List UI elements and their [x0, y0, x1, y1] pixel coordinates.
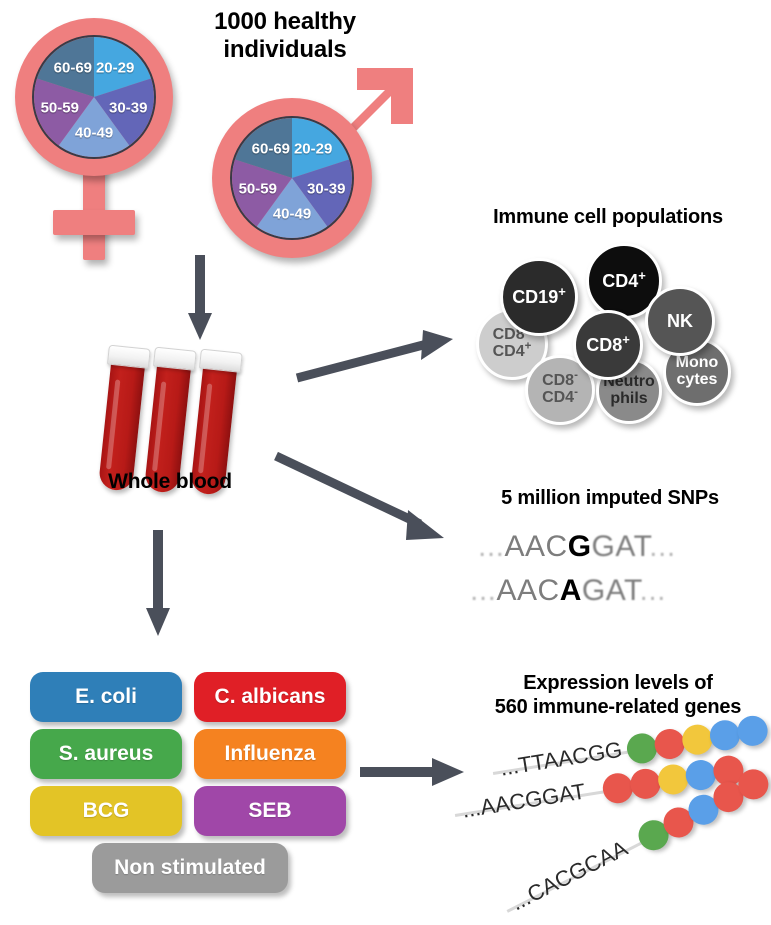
snp-segment: G — [568, 530, 592, 563]
figure-canvas: 1000 healthyindividuals 20-2930-3940-495… — [0, 0, 771, 922]
immune-cell-bubble: CD19+ — [500, 258, 578, 336]
rna-strand-sequence: ...CACGCAA — [507, 835, 632, 916]
stimulus-pill[interactable]: Influenza — [194, 729, 346, 779]
rna-bead — [735, 714, 769, 748]
immune-cell-bubble: NK — [645, 286, 715, 356]
snp-segment: ... — [478, 530, 505, 563]
snp-segment: GAT — [582, 574, 640, 607]
stimulus-pill[interactable]: Non stimulated — [92, 843, 288, 893]
immune-cell-label: CD8-CD4- — [542, 373, 578, 406]
rna-bead — [625, 731, 659, 765]
arrow-blood-to-snps — [272, 442, 462, 552]
stimulus-pill[interactable]: E. coli — [30, 672, 182, 722]
immune-cell-bubble-cluster: CD19+CD4+CD8+NKCD8+CD4+CD8-CD4-Neutrophi… — [0, 0, 771, 440]
arrow-blood-to-stimuli — [138, 530, 178, 640]
snp-segment: ... — [649, 530, 676, 563]
snp-sequence-row: ...AACGGAT... — [478, 530, 676, 564]
stimulus-pill[interactable]: C. albicans — [194, 672, 346, 722]
snp-segment: A — [560, 574, 582, 607]
page-title-expression: Expression levels of560 immune-related g… — [470, 672, 766, 719]
stimulus-pill[interactable]: S. aureus — [30, 729, 182, 779]
snp-segment: AAC — [497, 574, 560, 607]
rna-strand-group: ...TTAACGG...AACGGAT...CACGCAA — [455, 735, 771, 920]
immune-cell-label: CD19+ — [512, 288, 566, 307]
label-whole-blood: Whole blood — [60, 470, 280, 495]
immune-cell-label: Monocytes — [676, 355, 719, 388]
rna-bead — [680, 722, 714, 756]
immune-cell-label: CD4+ — [602, 272, 646, 291]
immune-cell-bubble: CD8+ — [573, 310, 643, 380]
page-title-snps: 5 million imputed SNPs — [455, 487, 765, 511]
arrow-stimuli-to-expression — [360, 752, 470, 798]
snp-sequence-row: ...AACAGAT... — [470, 574, 666, 608]
snp-sequence-block: ...AACGGAT......AACAGAT... — [470, 530, 760, 620]
rna-bead — [628, 767, 662, 801]
immune-cell-label: NK — [667, 312, 693, 331]
rna-bead — [656, 762, 690, 796]
rna-strand-sequence: ...AACGGAT — [460, 779, 587, 824]
stimuli-panel: E. coliC. albicansS. aureusInfluenzaBCGS… — [30, 672, 350, 897]
stimulus-pill[interactable]: BCG — [30, 786, 182, 836]
snp-segment: ... — [470, 574, 497, 607]
rna-bead — [708, 718, 742, 752]
stimulus-pill[interactable]: SEB — [194, 786, 346, 836]
snp-segment: ... — [640, 574, 667, 607]
snp-segment: GAT — [592, 530, 650, 563]
immune-cell-label: CD8+ — [586, 336, 630, 355]
rna-bead — [601, 771, 635, 805]
rna-bead — [652, 727, 686, 761]
snp-segment: AAC — [505, 530, 568, 563]
